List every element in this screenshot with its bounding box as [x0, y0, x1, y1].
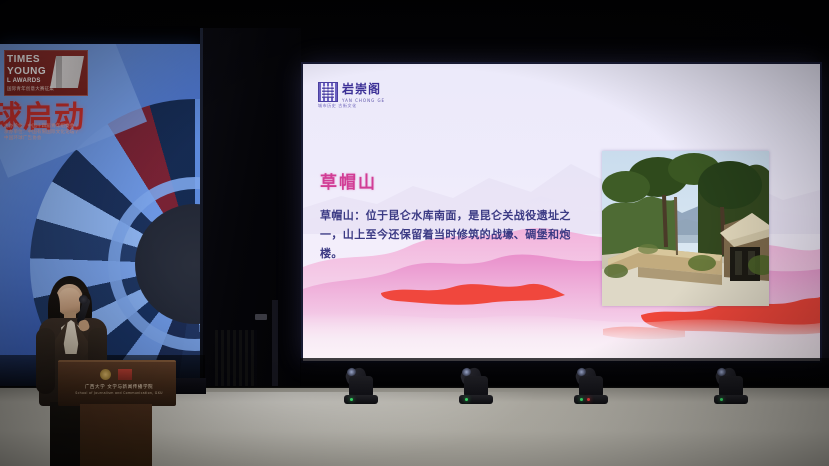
light-status-led-red — [587, 398, 590, 401]
light-yoke — [464, 376, 488, 396]
banner-headline-line2: YOUNG — [7, 66, 46, 77]
slide-brand-tagline: 城市历史 古街文化 — [318, 103, 357, 109]
slide-brand-name: 岩崇阁 — [342, 83, 381, 96]
photo-illustration — [602, 151, 769, 306]
podium-column — [80, 404, 152, 466]
moving-head-light-2 — [459, 368, 493, 404]
light-yoke — [719, 376, 743, 396]
slide-brand-logo: 岩崇阁 YAN CHONG GE 城市历史 古街文化 — [318, 82, 380, 108]
moving-head-light-4 — [714, 368, 748, 404]
moving-head-light-3 — [574, 368, 608, 404]
column-post — [272, 300, 278, 388]
column-vent-grille — [215, 330, 257, 386]
school-mark-icon — [118, 369, 132, 380]
light-yoke — [579, 376, 603, 396]
banner-header-block: TIMES YOUNG L AWARDS 国际青年创意大赛征集 — [4, 50, 88, 96]
moving-head-light-1 — [344, 368, 378, 404]
banner-headline-line3: L AWARDS — [7, 78, 41, 84]
light-status-led — [465, 398, 468, 401]
presenter-face — [58, 288, 81, 314]
light-status-led — [720, 398, 723, 401]
column-edge-highlight — [200, 28, 203, 390]
podium-org-line1: 广西大学 文学与新闻传播学院 — [72, 384, 166, 390]
stage-scene: TIMES YOUNG L AWARDS 国际青年创意大赛征集 球启动 主办单位… — [0, 0, 829, 466]
banner-headline-line1: TIMES — [7, 54, 40, 65]
slide-body-text: 草帽山：位于昆仑水库南面，是昆仑关战役遗址之一，山上至今还保留着当时修筑的战壕、… — [320, 206, 588, 263]
microphone-head-icon — [79, 295, 88, 304]
university-emblem-icon — [100, 369, 111, 380]
slide-photo — [602, 151, 769, 306]
podium-front-panel: 广西大学 文学与新闻传播学院 School of Journalism and … — [58, 360, 176, 406]
led-presentation-screen: 岩崇阁 YAN CHONG GE 城市历史 古街文化 草帽山 草帽山：位于昆仑水… — [303, 64, 820, 361]
light-yoke — [349, 376, 373, 396]
seal-emblem-icon — [318, 82, 338, 102]
column-panel-icon — [255, 314, 267, 320]
slide-title: 草帽山 — [320, 168, 377, 193]
podium-org-line2: School of Journalism and Communication, … — [72, 391, 166, 395]
light-status-led — [580, 398, 583, 401]
ribbon-mark-icon — [50, 56, 84, 88]
podium: 广西大学 文学与新闻传播学院 School of Journalism and … — [58, 360, 176, 466]
presenter-arm-left — [36, 328, 55, 394]
light-status-led — [350, 398, 353, 401]
banner-fine-print: 主办单位：中国十四届青年组委会 / 承办单位：中国有限国际文化论坛 / 中国环球… — [4, 124, 84, 142]
